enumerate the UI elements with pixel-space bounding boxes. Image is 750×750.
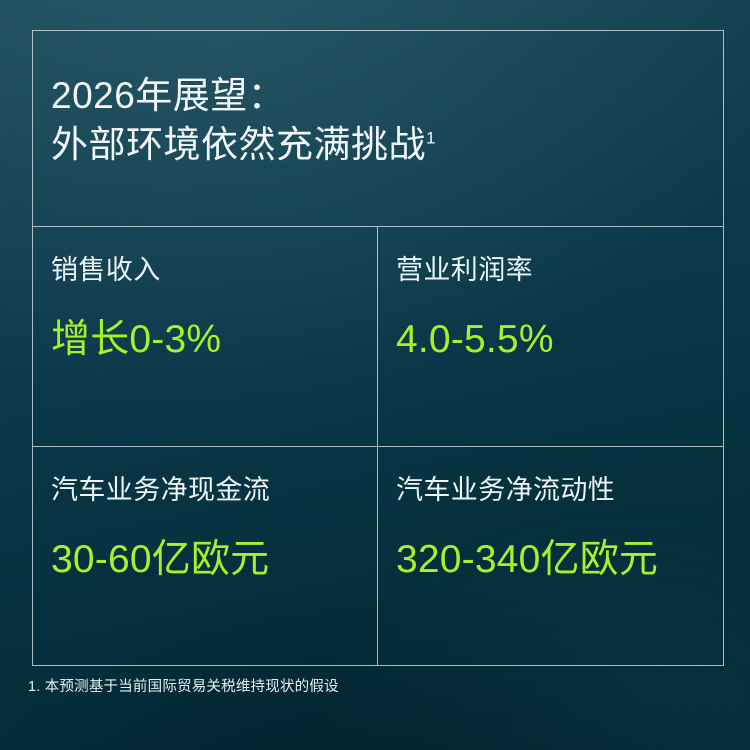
metric-value: 增长0-3% [51, 317, 377, 363]
outlook-metrics-table: 2026年展望： 外部环境依然充满挑战1 销售收入 增长0-3% 营业利润率 4… [32, 30, 724, 666]
metric-label: 营业利润率 [396, 253, 723, 287]
slide-title-line-2-text: 外部环境依然充满挑战 [51, 124, 426, 165]
table-header: 2026年展望： 外部环境依然充满挑战1 [33, 31, 723, 227]
footnote: 1. 本预测基于当前国际贸易关税维持现状的假设 [28, 677, 339, 697]
outlook-slide: 2026年展望： 外部环境依然充满挑战1 销售收入 增长0-3% 营业利润率 4… [0, 0, 750, 750]
metric-cell-automotive-net-liquidity: 汽车业务净流动性 320-340亿欧元 [378, 447, 723, 666]
metric-cell-automotive-net-cash-flow: 汽车业务净现金流 30-60亿欧元 [33, 447, 378, 666]
metrics-row-1: 销售收入 增长0-3% 营业利润率 4.0-5.5% [33, 227, 723, 447]
metric-label: 汽车业务净现金流 [51, 473, 377, 507]
metrics-row-2: 汽车业务净现金流 30-60亿欧元 汽车业务净流动性 320-340亿欧元 [33, 447, 723, 666]
slide-title-line-1: 2026年展望： [51, 71, 723, 120]
metric-value: 30-60亿欧元 [51, 537, 377, 583]
metric-label: 销售收入 [51, 253, 377, 287]
metric-cell-sales-revenue: 销售收入 增长0-3% [33, 227, 378, 446]
metric-value: 4.0-5.5% [396, 317, 723, 363]
metric-label: 汽车业务净流动性 [396, 473, 723, 507]
metric-cell-operating-margin: 营业利润率 4.0-5.5% [378, 227, 723, 446]
slide-title-line-2: 外部环境依然充满挑战1 [51, 120, 723, 169]
metric-value: 320-340亿欧元 [396, 537, 723, 583]
title-footnote-marker: 1 [426, 129, 435, 148]
